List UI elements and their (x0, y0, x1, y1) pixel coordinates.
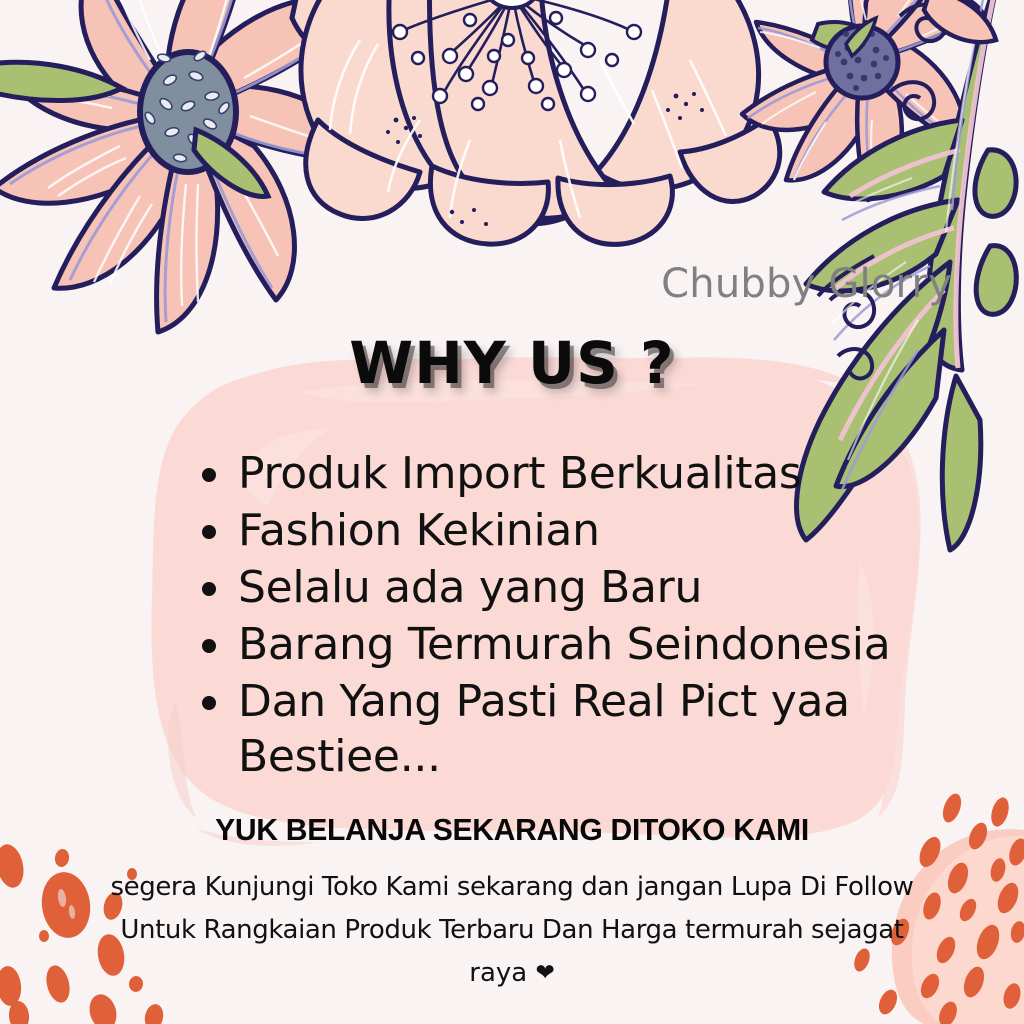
bullet-dot-icon (202, 525, 216, 539)
benefits-list: Produk Import Berkualitas Fashion Kekini… (196, 446, 976, 786)
footer-paragraph: segera Kunjungi Toko Kami sekarang dan j… (104, 866, 920, 995)
call-to-action-text: YUK BELANJA SEKARANG DITOKO KAMI (15, 812, 1008, 848)
heart-icon: ❤ (535, 960, 554, 986)
bullet-dot-icon (202, 582, 216, 596)
footer-line-2: Untuk Rangkaian Produk Terbaru Dan Harga… (104, 909, 920, 952)
list-item: Fashion Kekinian (196, 503, 976, 558)
poster-canvas: Chubby Glorry WHY US ? Produk Import Ber… (0, 0, 1024, 1024)
center-peony-flower (301, 0, 780, 244)
list-item: Selalu ada yang Baru (196, 560, 976, 615)
footer-line-1: segera Kunjungi Toko Kami sekarang dan j… (104, 866, 920, 909)
page-title: WHY US ? (0, 329, 1024, 397)
footer-line-3-text: raya (469, 958, 527, 988)
list-item-label: Selalu ada yang Baru (238, 562, 702, 613)
bullet-dot-icon (202, 468, 216, 482)
footer-line-3: raya ❤ (104, 952, 920, 995)
list-item-label: Fashion Kekinian (238, 505, 600, 556)
bullet-dot-icon (202, 696, 216, 710)
list-item-label: Dan Yang Pasti Real Pict yaa Bestiee... (238, 676, 850, 782)
brand-name: Chubby Glorry (661, 261, 952, 307)
list-item: Barang Termurah Seindonesia (196, 617, 976, 672)
list-item: Produk Import Berkualitas (196, 446, 976, 501)
list-item-label: Produk Import Berkualitas (238, 448, 802, 499)
bullet-dot-icon (202, 639, 216, 653)
list-item: Dan Yang Pasti Real Pict yaa Bestiee... (196, 674, 976, 784)
list-item-label: Barang Termurah Seindonesia (238, 619, 890, 670)
